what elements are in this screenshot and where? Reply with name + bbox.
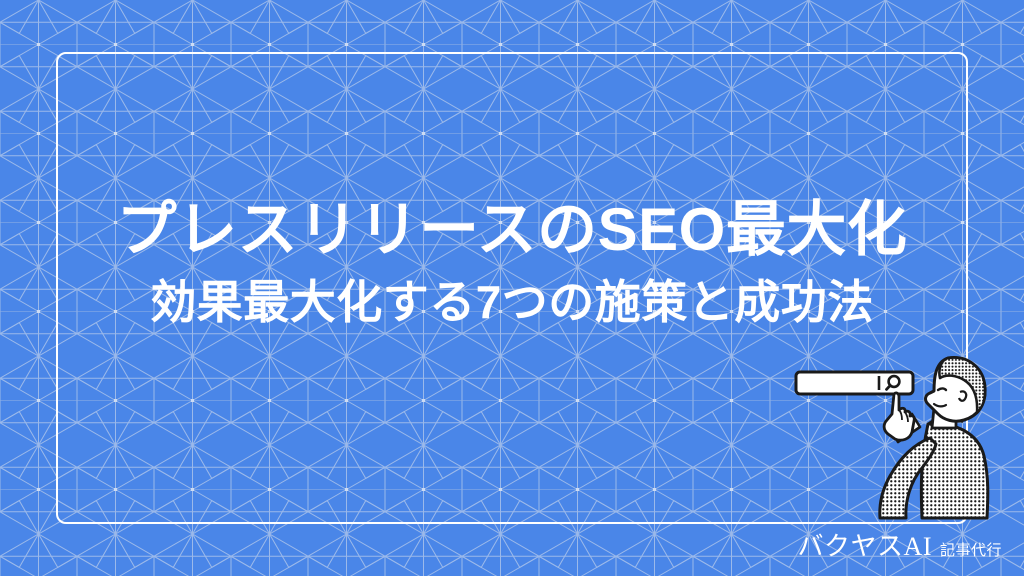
brand-logo: バクヤスAI 記事代行: [798, 534, 1002, 560]
seo-banner-slide: プレスリリースのSEO最大化 効果最大化する7つの施策と成功法: [0, 0, 1024, 576]
title-group: プレスリリースのSEO最大化 効果最大化する7つの施策と成功法: [0, 196, 1024, 329]
page-title: プレスリリースのSEO最大化: [0, 196, 1024, 263]
brand-name: バクヤスAI: [798, 534, 932, 560]
brand-tagline: 記事代行: [940, 543, 1002, 558]
person-head: [926, 358, 986, 422]
page-subtitle: 効果最大化する7つの施策と成功法: [0, 277, 1024, 329]
pointing-hand: [884, 393, 914, 440]
search-bar-graphic: [796, 372, 913, 394]
person-search-illustration: [778, 352, 1002, 520]
